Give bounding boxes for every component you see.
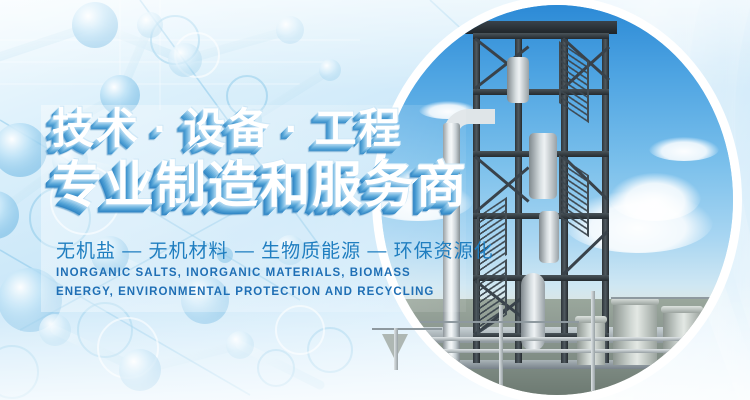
process-pipe [394,328,398,370]
promo-banner: 技术 · 设备 · 工程 专业制造和服务商 无机盐 — 无机材料 — 生物质能源… [0,0,750,400]
title-line-2: 专业制造和服务商 [52,160,482,210]
tower-beam [473,33,609,39]
left-equipment-group [372,320,442,380]
subtitle-chinese: 无机盐 — 无机材料 — 生物质能源 — 环保资源化 [56,236,494,263]
handrail [372,328,442,330]
headline-block: 技术 · 设备 · 工程 专业制造和服务商 [52,108,482,210]
subtitle-english: INORGANIC SALTS, INORGANIC MATERIALS, BI… [56,264,456,302]
process-vessel [529,133,557,199]
storage-tank [613,303,657,365]
title-line-1: 技术 · 设备 · 工程 [52,108,482,150]
process-pipe [591,291,595,391]
cloud-icon [609,173,701,221]
process-pipe [499,305,503,395]
cloud-icon [649,137,719,161]
process-vessel [539,211,559,263]
process-vessel [507,57,529,103]
handrail [611,297,729,299]
